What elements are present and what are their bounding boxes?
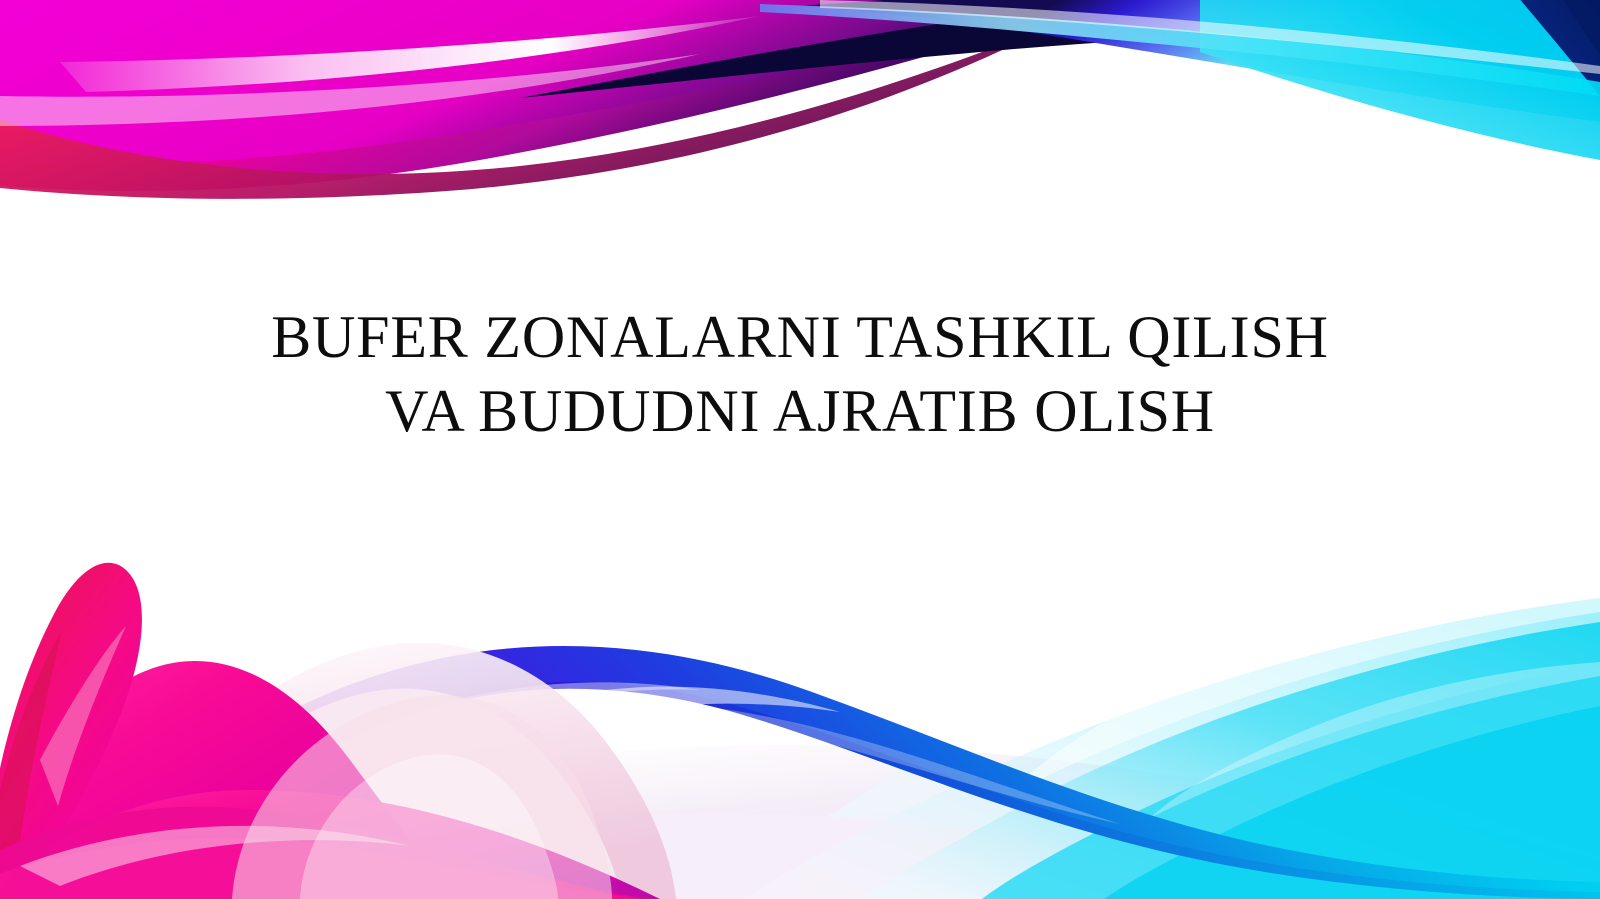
top-wave-band bbox=[0, 0, 1600, 899]
title-line-1: BUFER ZONALARNI TASHKIL QILISH bbox=[120, 300, 1480, 374]
presentation-slide: BUFER ZONALARNI TASHKIL QILISH VA BUDUDN… bbox=[0, 0, 1600, 899]
title-line-2: VA BUDUDNI AJRATIB OLISH bbox=[120, 374, 1480, 448]
bottom-wave-band bbox=[0, 0, 1600, 899]
slide-title: BUFER ZONALARNI TASHKIL QILISH VA BUDUDN… bbox=[0, 300, 1600, 448]
